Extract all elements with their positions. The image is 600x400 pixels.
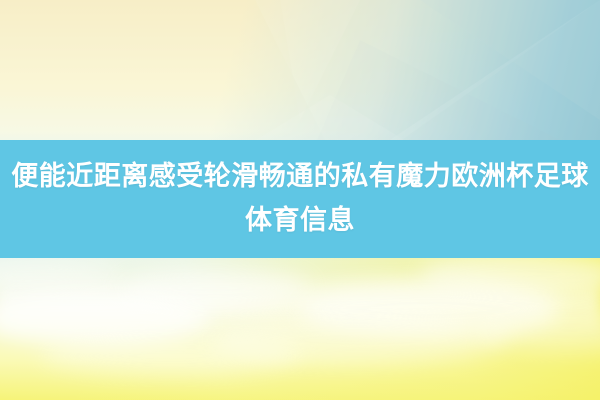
- banner-title: 便能近距离感受轮滑畅通的私有魔力欧洲杯足球体育信息: [6, 155, 594, 243]
- banner-image: 便能近距离感受轮滑畅通的私有魔力欧洲杯足球体育信息: [0, 0, 600, 400]
- title-band: 便能近距离感受轮滑畅通的私有魔力欧洲杯足球体育信息: [0, 140, 600, 258]
